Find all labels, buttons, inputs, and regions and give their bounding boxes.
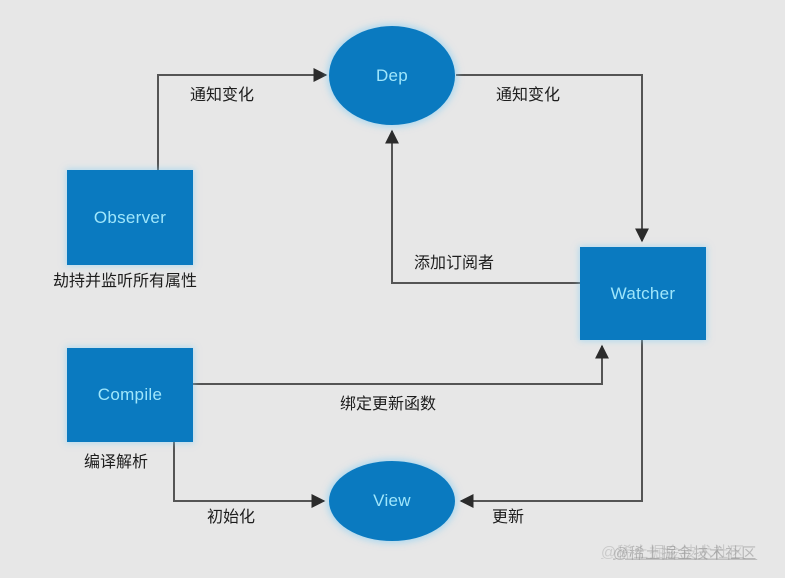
node-compile-label: Compile	[98, 385, 162, 405]
diagram-canvas: Dep Observer Watcher Compile View 劫持并监听所…	[0, 0, 785, 578]
edge-label-observer-to-dep: 通知变化	[190, 87, 254, 105]
caption-observer: 劫持并监听所有属性	[53, 273, 197, 291]
edge-label-compile-to-watcher: 绑定更新函数	[340, 396, 436, 414]
watermark-text: @稀土掘金技术社区	[613, 542, 757, 563]
edge-compile-to-watcher	[193, 346, 602, 384]
node-dep[interactable]: Dep	[329, 26, 455, 125]
node-view[interactable]: View	[329, 461, 455, 541]
edge-label-watcher-to-view: 更新	[492, 509, 524, 527]
node-observer[interactable]: Observer	[67, 170, 193, 265]
node-watcher[interactable]: Watcher	[580, 247, 706, 340]
node-watcher-label: Watcher	[611, 284, 676, 304]
node-compile[interactable]: Compile	[67, 348, 193, 442]
edge-label-compile-to-view: 初始化	[207, 509, 255, 527]
edge-compile-to-view	[174, 442, 324, 501]
node-dep-label: Dep	[376, 66, 408, 86]
node-view-label: View	[373, 491, 411, 511]
edge-label-dep-to-watcher: 通知变化	[496, 87, 560, 105]
node-observer-label: Observer	[94, 208, 166, 228]
edge-watcher-to-view	[461, 340, 642, 501]
caption-compile: 编译解析	[84, 454, 148, 472]
edge-label-watcher-to-dep: 添加订阅者	[414, 255, 494, 273]
